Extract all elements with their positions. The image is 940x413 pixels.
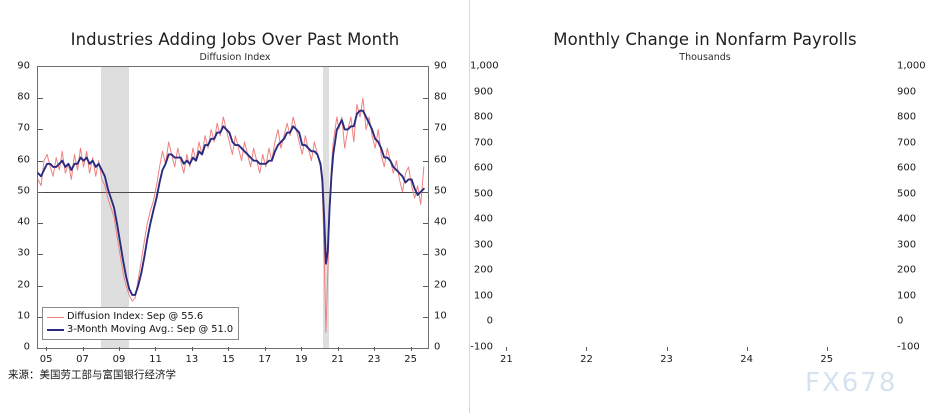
right-y-axis-tick-label: -100	[897, 342, 920, 353]
left-x-axis-tick-label: 09	[113, 354, 126, 365]
right-chart-title: Monthly Change in Nonfarm Payrolls	[470, 30, 940, 49]
left-chart-panel: Industries Adding Jobs Over Past Month D…	[0, 0, 470, 413]
left-chart-legend: Diffusion Index: Sep @ 55.63-Month Movin…	[42, 307, 239, 340]
left-x-axis-tick-label: 21	[331, 354, 344, 365]
right-x-axis-tick-label: 22	[580, 354, 593, 365]
right-chart-subtitle: Thousands	[470, 52, 940, 63]
left-series-group	[38, 67, 428, 348]
right-y-axis-tick-label: 500	[470, 188, 493, 199]
legend-item-label: 3-Month Moving Avg.: Sep @ 51.0	[67, 324, 233, 337]
left-x-axis-tick-label: 19	[295, 354, 308, 365]
left-x-axis-tick-label: 15	[222, 354, 235, 365]
right-y-axis-tick-label: -100	[470, 342, 493, 353]
right-y-axis-tick-label: 200	[470, 265, 493, 276]
left-x-axis-tick-mark	[338, 347, 339, 351]
left-y-axis-tick-label: 40	[434, 217, 447, 228]
left-y-axis-tick-label: 50	[434, 185, 447, 196]
left-x-axis-tick-label: 17	[258, 354, 271, 365]
right-x-axis-tick-mark	[667, 347, 668, 351]
left-y-axis-tick-label: 40	[0, 217, 30, 228]
left-chart-title: Industries Adding Jobs Over Past Month	[0, 30, 470, 49]
right-x-axis-tick-label: 24	[740, 354, 753, 365]
left-series-line	[38, 98, 424, 332]
left-y-axis-tick-label: 80	[0, 92, 30, 103]
right-y-axis-tick-label: 800	[897, 112, 916, 123]
right-y-axis-tick-label: 400	[897, 214, 916, 225]
legend-item-label: Diffusion Index: Sep @ 55.6	[67, 311, 203, 324]
left-y-axis-tick-label: 70	[434, 123, 447, 134]
left-x-axis-tick-mark	[83, 347, 84, 351]
right-y-axis-tick-label: 500	[897, 188, 916, 199]
legend-item: 3-Month Moving Avg.: Sep @ 51.0	[47, 324, 233, 337]
right-y-axis-tick-label: 600	[470, 163, 493, 174]
right-y-axis-tick-label: 0	[470, 316, 493, 327]
legend-line-swatch	[47, 317, 64, 318]
left-series-line	[38, 111, 424, 295]
right-x-axis-tick-label: 25	[820, 354, 833, 365]
left-x-axis-tick-label: 11	[149, 354, 162, 365]
right-y-axis-tick-label: 100	[470, 290, 493, 301]
left-y-axis-tick-label: 70	[0, 123, 30, 134]
right-y-axis-tick-label: 400	[470, 214, 493, 225]
legend-item: Diffusion Index: Sep @ 55.6	[47, 311, 233, 324]
left-x-axis-tick-label: 05	[40, 354, 53, 365]
right-y-axis-tick-label: 1,000	[897, 61, 926, 72]
left-y-axis-tick-label: 20	[434, 279, 447, 290]
left-x-axis-tick-mark	[46, 347, 47, 351]
left-x-axis-tick-label: 25	[404, 354, 417, 365]
left-x-axis-tick-mark	[374, 347, 375, 351]
left-x-axis-tick-mark	[265, 347, 266, 351]
left-source-note: 来源：美国劳工部与富国银行经济学	[8, 367, 176, 382]
left-chart-subtitle: Diffusion Index	[0, 52, 470, 63]
left-y-axis-tick-label: 30	[0, 248, 30, 259]
left-x-axis-tick-mark	[155, 347, 156, 351]
chart-board: Industries Adding Jobs Over Past Month D…	[0, 0, 940, 413]
left-x-axis-tick-mark	[192, 347, 193, 351]
left-y-axis-tick-label: 0	[434, 342, 440, 353]
right-y-axis-tick-label: 700	[470, 137, 493, 148]
right-x-axis-tick-mark	[827, 347, 828, 351]
left-y-axis-tick-label: 90	[434, 61, 447, 72]
right-y-axis-tick-label: 1,000	[470, 61, 493, 72]
left-y-axis-tick-label: 10	[434, 310, 447, 321]
right-y-axis-tick-label: 300	[897, 239, 916, 250]
right-x-axis-tick-label: 23	[660, 354, 673, 365]
right-x-axis-tick-label: 21	[500, 354, 513, 365]
left-x-axis-tick-label: 13	[186, 354, 199, 365]
left-x-axis-tick-mark	[119, 347, 120, 351]
left-y-axis-tick-label: 60	[0, 154, 30, 165]
left-y-axis-tick-label: 80	[434, 92, 447, 103]
left-y-axis-tick-label: 10	[0, 310, 30, 321]
left-y-axis-tick-label: 90	[0, 61, 30, 72]
fx678-watermark: FX678	[805, 368, 897, 398]
left-x-axis-tick-label: 07	[76, 354, 89, 365]
right-y-axis-tick-label: 200	[897, 265, 916, 276]
right-x-axis-tick-mark	[506, 347, 507, 351]
right-x-axis-tick-mark	[747, 347, 748, 351]
left-x-axis-tick-mark	[301, 347, 302, 351]
left-y-axis-tick-label: 60	[434, 154, 447, 165]
left-x-axis-tick-mark	[228, 347, 229, 351]
right-y-axis-tick-label: 900	[470, 86, 493, 97]
right-y-axis-tick-label: 0	[897, 316, 903, 327]
right-y-axis-tick-label: 300	[470, 239, 493, 250]
right-y-axis-tick-label: 900	[897, 86, 916, 97]
left-x-axis-tick-label: 23	[368, 354, 381, 365]
legend-line-swatch	[47, 329, 64, 331]
left-x-axis-tick-mark	[411, 347, 412, 351]
left-y-axis-tick-label: 0	[0, 342, 30, 353]
left-y-axis-tick-label: 20	[0, 279, 30, 290]
left-y-axis-tick-label: 50	[0, 185, 30, 196]
left-y-axis-tick-label: 30	[434, 248, 447, 259]
right-chart-panel: Monthly Change in Nonfarm Payrolls Thous…	[470, 0, 940, 413]
right-y-axis-tick-label: 100	[897, 290, 916, 301]
right-y-axis-tick-label: 800	[470, 112, 493, 123]
right-y-axis-tick-label: 700	[897, 137, 916, 148]
right-y-axis-tick-label: 600	[897, 163, 916, 174]
right-x-axis-tick-mark	[586, 347, 587, 351]
